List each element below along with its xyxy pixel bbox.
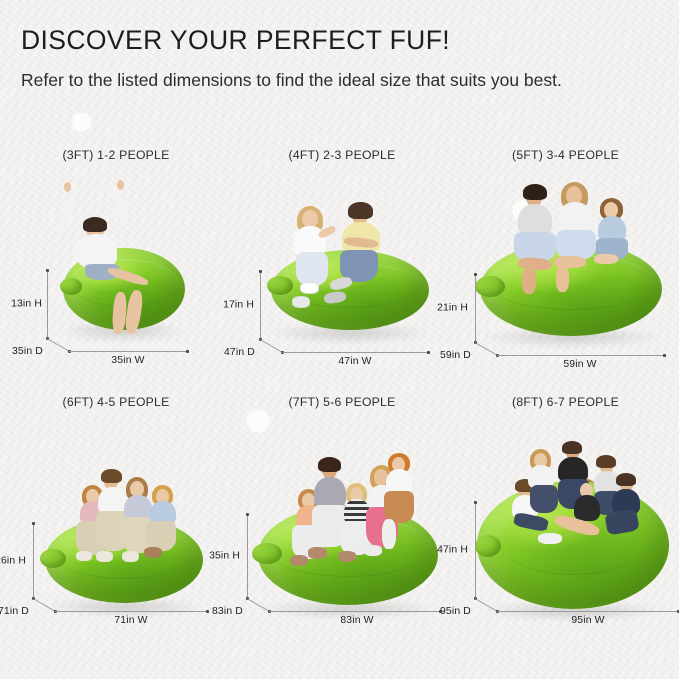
dimension-height-3ft: 13in H — [0, 299, 42, 310]
dimension-width-3ft: 35in W — [111, 355, 144, 366]
dimension-depth-6ft: 71in D — [0, 606, 29, 617]
dimension-depth-3ft: 35in D — [12, 346, 43, 357]
fuf-size-guide-infographic: DISCOVER YOUR PERFECT FUF! Refer to the … — [0, 0, 679, 679]
dimension-depth-5ft: 59in D — [440, 350, 471, 361]
dimension-height-6ft: 26in H — [0, 556, 26, 567]
dimension-depth-4ft: 47in D — [224, 347, 255, 358]
dimension-depth-8ft: 95in D — [440, 606, 471, 617]
dimension-height-7ft: 35in H — [192, 551, 240, 562]
dimension-depth-7ft: 83in D — [212, 606, 243, 617]
product-grid: (3FT) 1-2 PEOPLE — [0, 0, 679, 679]
dimension-annotations-8ft: 47in H 95in D 95in W — [452, 395, 679, 635]
dimension-width-5ft: 59in W — [563, 359, 596, 370]
product-card-7ft[interactable]: (7FT) 5-6 PEOPLE — [226, 395, 458, 635]
dimension-width-8ft: 95in W — [571, 615, 604, 626]
product-card-6ft[interactable]: (6FT) 4-5 PEOPLE — [0, 395, 232, 635]
dimension-annotations-6ft: 26in H 71in D 71in W — [0, 395, 232, 635]
product-card-4ft[interactable]: (4FT) 2-3 PEOPLE — [226, 148, 458, 374]
product-card-3ft[interactable]: (3FT) 1-2 PEOPLE — [0, 148, 232, 374]
page-header: DISCOVER YOUR PERFECT FUF! Refer to the … — [21, 26, 621, 93]
dimension-annotations-3ft: 13in H 35in D 35in W — [0, 148, 232, 374]
dimension-annotations-7ft: 35in H 83in D 83in W — [226, 395, 458, 635]
dimension-width-7ft: 83in W — [340, 615, 373, 626]
dimension-annotations-4ft: 17in H 47in D 47in W — [226, 148, 458, 374]
page-title: DISCOVER YOUR PERFECT FUF! — [21, 26, 621, 55]
product-card-8ft[interactable]: (8FT) 6-7 PEOPLE — [452, 395, 679, 635]
dimension-annotations-5ft: 21in H 59in D 59in W — [452, 148, 679, 374]
page-subtitle: Refer to the listed dimensions to find t… — [21, 67, 581, 93]
dimension-height-5ft: 21in H — [420, 303, 468, 314]
dimension-height-4ft: 17in H — [206, 300, 254, 311]
product-card-5ft[interactable]: (5FT) 3-4 PEOPLE — [452, 148, 679, 374]
dimension-height-8ft: 47in H — [420, 545, 468, 556]
dimension-width-6ft: 71in W — [114, 615, 147, 626]
dimension-width-4ft: 47in W — [338, 356, 371, 367]
